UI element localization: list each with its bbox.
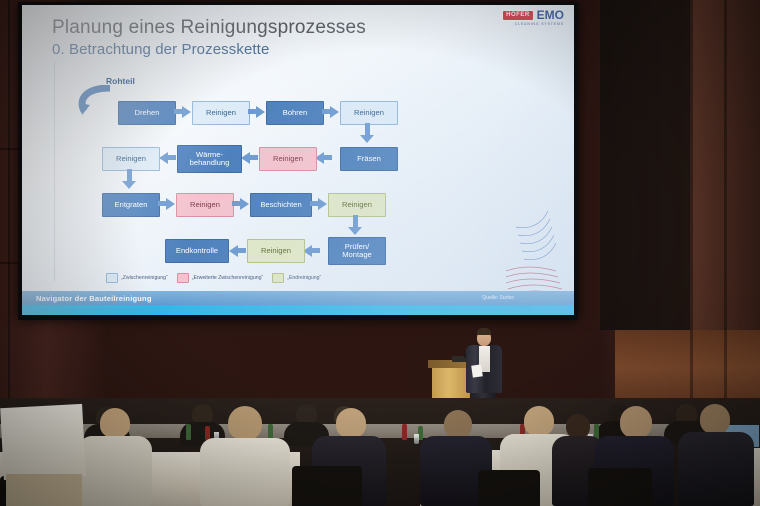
arrow-left-icon: [159, 152, 168, 164]
chair: [588, 468, 652, 506]
legend-label: „Endreinigung“: [287, 275, 321, 281]
arrow-stem: [232, 201, 240, 206]
arrow-right-icon: [318, 198, 327, 210]
legend: „Zwischenreinigung“ „Erweiterte Zwischen…: [106, 273, 321, 283]
arrow-stem: [324, 155, 332, 160]
arrow-stem: [248, 109, 256, 114]
arrow-left-icon: [241, 152, 250, 164]
wall-seam: [8, 0, 10, 400]
flow-step: Reinigen: [102, 147, 160, 171]
footer-title: Navigator der Bauteilreinigung: [36, 294, 152, 303]
flow-step: Entgraten: [102, 193, 160, 217]
arrow-right-icon: [330, 106, 339, 118]
logo-mark: HÖFER: [502, 10, 534, 21]
audience-head: [620, 406, 652, 438]
flow-step: Beschichten: [250, 193, 312, 217]
logo-tagline: CLEANING SYSTEMS: [515, 22, 564, 26]
arrow-stem: [312, 248, 320, 253]
arrow-stem: [158, 201, 166, 206]
wall-seam: [724, 0, 727, 400]
flow-step: Reinigen: [247, 239, 305, 263]
legend-label: „Erweiterte Zwischenreinigung“: [192, 275, 264, 281]
flow-step: Endkontrolle: [165, 239, 229, 263]
footer-accent-strip: [22, 305, 574, 315]
audience-head: [444, 410, 472, 438]
flow-step: Reinigen: [340, 101, 398, 125]
company-logo: HÖFER EMO: [502, 9, 564, 21]
audience-head: [100, 408, 130, 438]
arrow-left-icon: [229, 245, 238, 257]
flow-step: Reinigen: [328, 193, 386, 217]
flow-step: Drehen: [118, 101, 176, 125]
bottle: [186, 424, 191, 440]
wall-dark-area: [600, 0, 690, 330]
arrow-down-icon: [122, 181, 136, 189]
legend-swatch: [177, 273, 189, 283]
flipchart: [0, 404, 86, 480]
legend-item: „Endreinigung“: [272, 273, 321, 283]
flow-step: Fräsen: [340, 147, 398, 171]
arrow-down-icon: [360, 135, 374, 143]
arrow-right-icon: [166, 198, 175, 210]
arrow-stem: [174, 109, 182, 114]
presentation-photo: Planung eines Reinigungsprozesses 0. Bet…: [0, 0, 760, 506]
speaker-papers: [471, 364, 483, 377]
audience-head: [336, 408, 366, 438]
glass: [414, 434, 419, 444]
legend-item: „Zwischenreinigung“: [106, 273, 168, 283]
slide-subtitle: 0. Betrachtung der Prozesskette: [52, 41, 269, 58]
chair: [292, 466, 362, 506]
logo-brand: EMO: [537, 9, 564, 21]
audience-head: [700, 404, 730, 434]
flow-step: Reinigen: [192, 101, 250, 125]
arrow-stem: [310, 201, 318, 206]
bottle: [402, 424, 407, 440]
arrow-stem: [238, 248, 246, 253]
chair: [478, 470, 540, 506]
arrow-right-icon: [256, 106, 265, 118]
slide-footer: Navigator der Bauteilreinigung Quelle: S…: [22, 291, 574, 305]
arrow-right-icon: [240, 198, 249, 210]
audience-head: [566, 414, 590, 438]
wall-seam: [690, 0, 693, 400]
legend-swatch: [272, 273, 284, 283]
slide-title: Planung eines Reinigungsprozesses: [52, 17, 366, 39]
flow-step: Wärme- behandlung: [177, 145, 242, 173]
speaker-hair: [477, 328, 491, 335]
arrow-stem: [250, 155, 258, 160]
flow-step: Reinigen: [259, 147, 317, 171]
legend-swatch: [106, 273, 118, 283]
arrow-down-icon: [348, 227, 362, 235]
audience-shoulders: [678, 432, 754, 506]
arrow-stem: [168, 155, 176, 160]
arrow-right-icon: [182, 106, 191, 118]
audience-shoulders: [78, 436, 152, 506]
audience-shoulders: [200, 438, 290, 506]
flow-step: Bohren: [266, 101, 324, 125]
legend-item: „Erweiterte Zwischenreinigung“: [177, 273, 264, 283]
arrow-stem: [322, 109, 330, 114]
projection-screen: Planung eines Reinigungsprozesses 0. Bet…: [22, 5, 574, 315]
input-arrow-icon: [76, 85, 118, 119]
flow-step: Prüfen/ Montage: [328, 237, 386, 265]
audience-head: [228, 406, 262, 440]
flipchart-stand: [6, 474, 82, 506]
flow-step: Reinigen: [176, 193, 234, 217]
legend-label: „Zwischenreinigung“: [121, 275, 168, 281]
footer-source: Quelle: Surtec: [482, 295, 514, 301]
audience-head: [524, 406, 554, 436]
